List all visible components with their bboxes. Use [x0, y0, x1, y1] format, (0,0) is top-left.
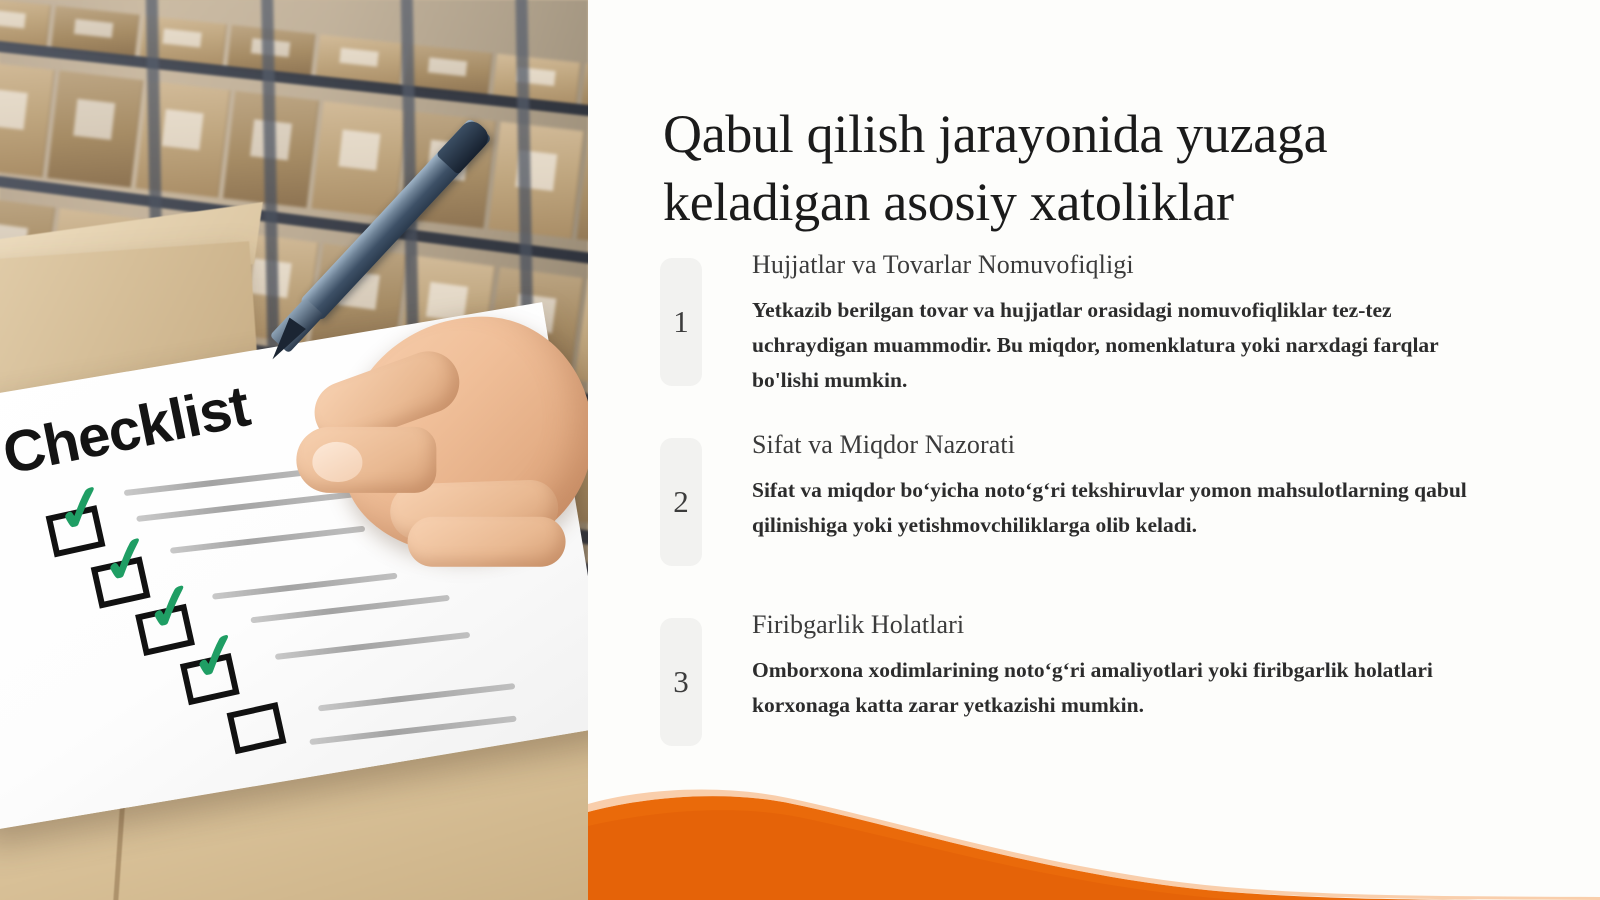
item-number: 3	[660, 618, 702, 746]
orange-wave-decoration	[588, 760, 1600, 900]
list-item: 2 Sifat va Miqdor Nazorati Sifat va miqd…	[650, 430, 1550, 606]
item-subtitle: Firibgarlik Holatlari	[752, 610, 1550, 640]
item-subtitle: Sifat va Miqdor Nazorati	[752, 430, 1550, 460]
content-panel: Qabul qilish jarayonida yuzaga keladigan…	[588, 0, 1600, 900]
slide-root: Checklist ✓ ✓ ✓	[0, 0, 1600, 900]
checklist-rule	[275, 632, 470, 660]
checklist-rule	[309, 716, 516, 746]
checklist-title: Checklist	[0, 372, 255, 487]
check-icon: ✓	[186, 633, 242, 694]
thumb-nail	[312, 441, 363, 483]
item-number: 1	[660, 258, 702, 386]
checkbox-unchecked	[227, 702, 287, 754]
item-number: 2	[660, 438, 702, 566]
mistakes-list: 1 Hujjatlar va Tovarlar Nomuvofiqligi Ye…	[650, 250, 1550, 786]
hand-with-pen	[284, 253, 588, 613]
finger	[408, 517, 566, 567]
checklist-rule	[318, 683, 515, 711]
warehouse-checklist-photo: Checklist ✓ ✓ ✓	[0, 0, 588, 900]
list-item: 1 Hujjatlar va Tovarlar Nomuvofiqligi Ye…	[650, 250, 1550, 426]
item-description: Sifat va miqdor bo‘yicha noto‘g‘ri teksh…	[752, 473, 1472, 543]
item-subtitle: Hujjatlar va Tovarlar Nomuvofiqligi	[752, 250, 1550, 280]
item-description: Yetkazib berilgan tovar va hujjatlar ora…	[752, 293, 1472, 397]
item-description: Omborxona xodimlarining noto‘g‘ri amaliy…	[752, 653, 1472, 723]
page-title: Qabul qilish jarayonida yuzaga keladigan…	[663, 100, 1493, 236]
